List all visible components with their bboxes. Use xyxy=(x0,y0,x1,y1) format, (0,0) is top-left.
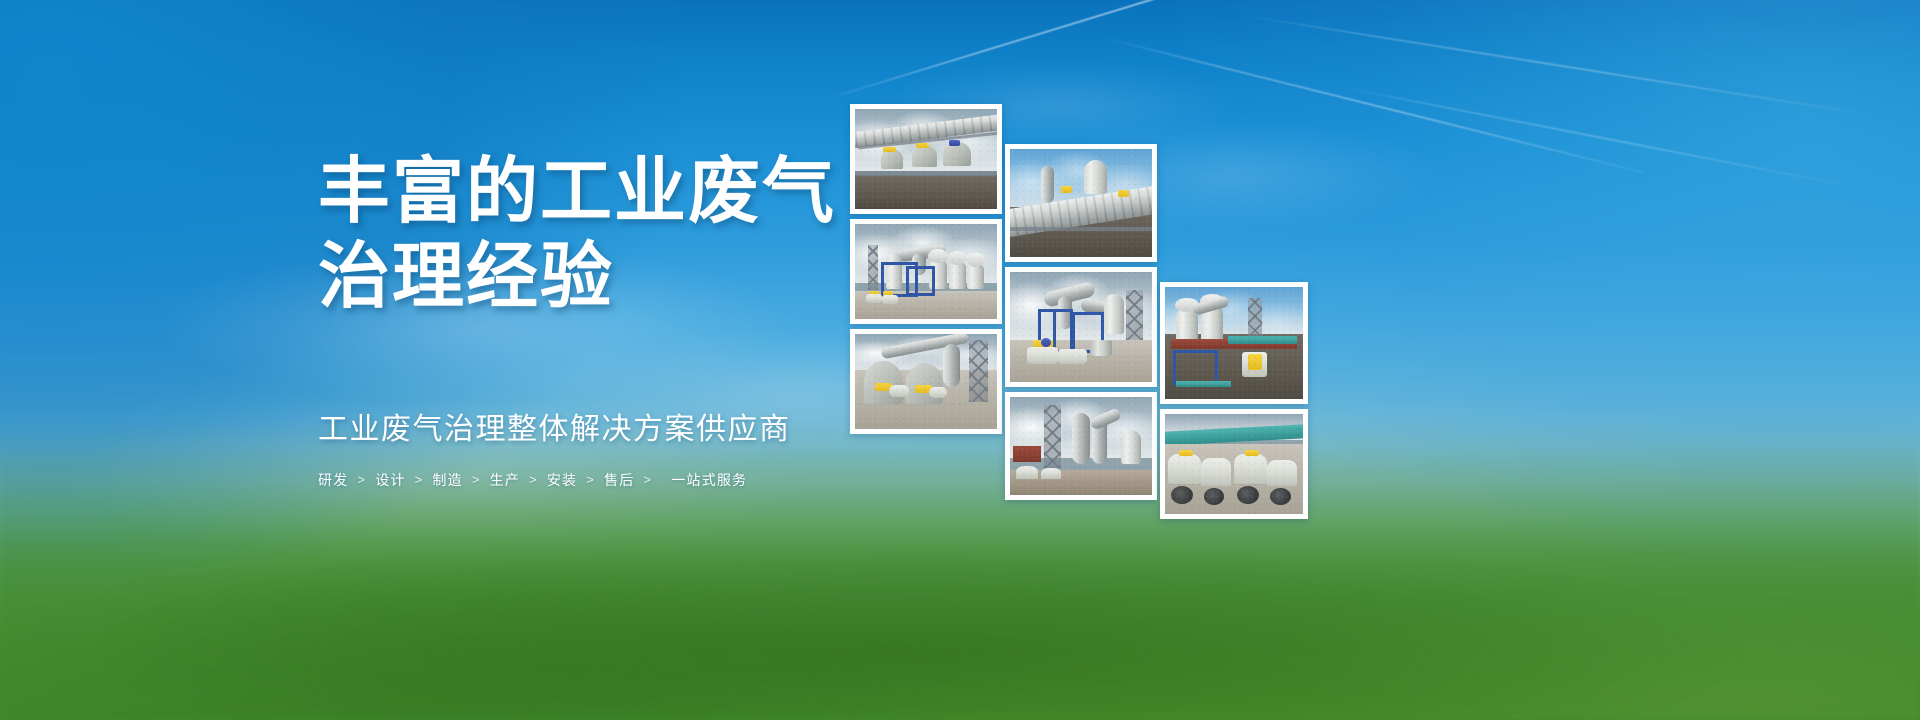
gallery-photo-3 xyxy=(850,329,1002,434)
banner-subtitle: 工业废气治理整体解决方案供应商 xyxy=(318,404,878,448)
process-step-onestop: 一站式服务 xyxy=(671,470,747,490)
process-step-installation: 安装 xyxy=(547,470,577,490)
gallery-photo-6 xyxy=(1005,392,1157,500)
hero-banner: 丰富的工业废气 治理经验 工业废气治理整体解决方案供应商 研发 > 设计 > 制… xyxy=(0,0,1920,720)
headline-line-1: 丰富的工业废气 xyxy=(318,152,836,232)
gallery-photo-1 xyxy=(850,104,1002,214)
gallery-photo-2 xyxy=(850,219,1002,324)
photo-collage xyxy=(845,104,1445,524)
chevron-right-icon: > xyxy=(586,472,595,487)
process-step-design: 设计 xyxy=(375,470,405,490)
process-step-manufacture: 制造 xyxy=(432,470,462,490)
chevron-right-icon: > xyxy=(529,472,538,487)
process-steps: 研发 > 设计 > 制造 > 生产 > 安装 > 售后 > 一站式服务 xyxy=(318,470,878,490)
process-step-production: 生产 xyxy=(490,470,520,490)
chevron-right-icon: > xyxy=(415,472,424,487)
banner-copy: 丰富的工业废气 治理经验 工业废气治理整体解决方案供应商 研发 > 设计 > 制… xyxy=(318,150,878,490)
process-step-rd: 研发 xyxy=(318,470,348,490)
headline-line-2: 治理经验 xyxy=(318,235,878,320)
gallery-photo-4 xyxy=(1005,144,1157,262)
chevron-right-icon: > xyxy=(357,472,366,487)
gallery-photo-7 xyxy=(1160,282,1308,404)
chevron-right-icon: > xyxy=(643,472,652,487)
page-title: 丰富的工业废气 治理经验 xyxy=(318,150,878,320)
chevron-right-icon: > xyxy=(472,472,481,487)
gallery-photo-5 xyxy=(1005,267,1157,387)
process-step-aftersales: 售后 xyxy=(604,470,634,490)
gallery-photo-8 xyxy=(1160,409,1308,519)
